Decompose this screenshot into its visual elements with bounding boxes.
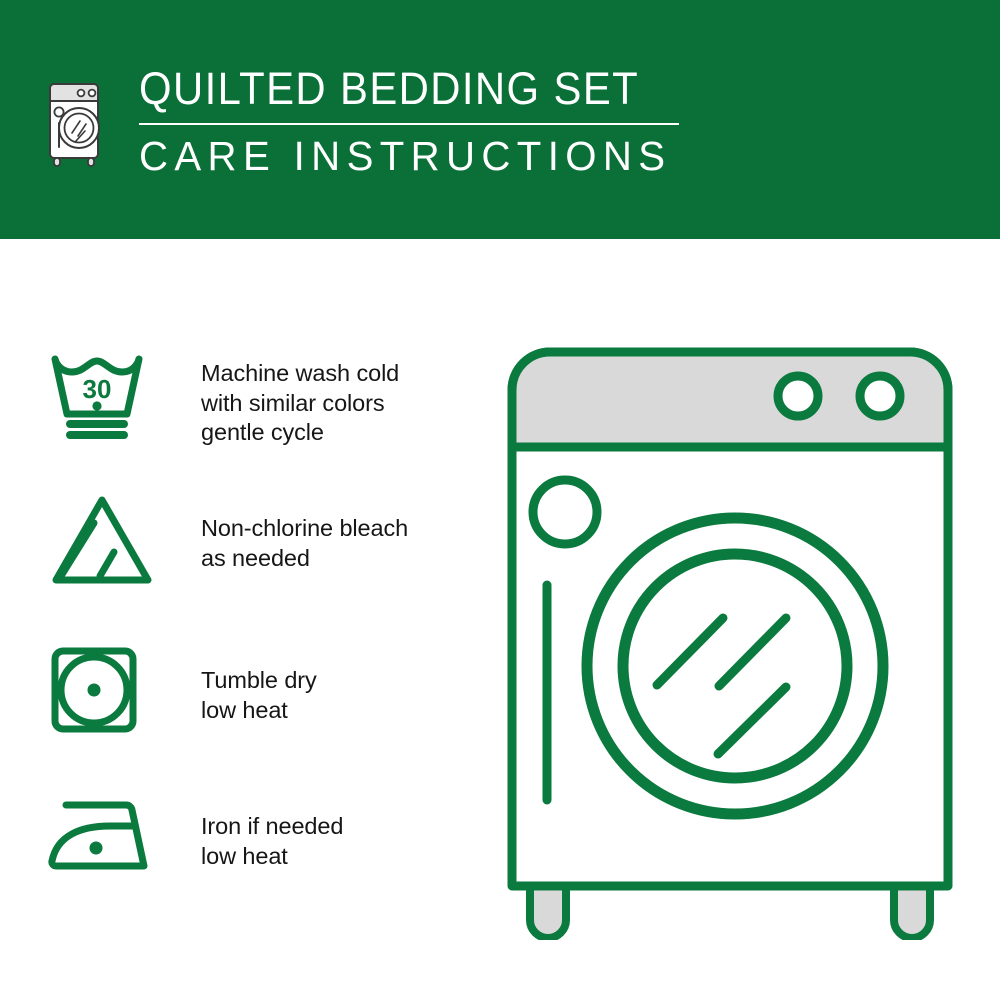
page-title: QUILTED BEDDING SET	[139, 66, 644, 111]
washing-machine-icon	[45, 71, 107, 171]
care-text-line: gentle cycle	[201, 418, 478, 448]
care-item-machine-wash: 30 Machine wash cold with similar colors…	[48, 336, 478, 484]
header-title-group: QUILTED BEDDING SET CARE INSTRUCTIONS	[139, 66, 682, 177]
control-knob-right[interactable]	[860, 376, 900, 416]
care-text-line: low heat	[201, 696, 478, 726]
care-text-line: Machine wash cold	[201, 359, 478, 389]
care-item-bleach: Non-chlorine bleach as needed	[48, 484, 478, 636]
wash-temperature-label: 30	[83, 374, 112, 404]
wash-tub-30-gentle-icon: 30	[48, 350, 146, 442]
front-load-washing-machine-illustration	[490, 330, 990, 940]
wash-dot	[92, 401, 101, 410]
control-knob-left[interactable]	[778, 376, 818, 416]
care-text-line: Iron if needed	[201, 812, 478, 842]
care-symbol-slot	[48, 784, 163, 876]
care-symbol-slot	[48, 636, 163, 736]
non-chlorine-bleach-triangle-icon	[48, 492, 156, 588]
care-instructions-infographic: QUILTED BEDDING SET CARE INSTRUCTIONS	[0, 0, 1000, 1000]
header-band: QUILTED BEDDING SET CARE INSTRUCTIONS	[0, 0, 1000, 239]
header-content: QUILTED BEDDING SET CARE INSTRUCTIONS	[45, 66, 682, 177]
care-item-tumble-dry: Tumble dry low heat	[48, 636, 478, 784]
care-item-iron: Iron if needed low heat	[48, 784, 478, 904]
care-text-line: as needed	[201, 544, 478, 574]
tumble-dry-low-heat-icon	[48, 644, 140, 736]
care-text-line: Non-chlorine bleach	[201, 514, 478, 544]
page-subtitle: CARE INSTRUCTIONS	[139, 136, 671, 177]
iron-dot	[90, 842, 103, 855]
care-item-text: Tumble dry low heat	[201, 636, 478, 725]
title-divider	[139, 123, 679, 125]
care-symbol-slot: 30	[48, 336, 163, 442]
care-text-line: with similar colors	[201, 389, 478, 419]
care-text-line: low heat	[201, 842, 478, 872]
care-item-text: Machine wash cold with similar colors ge…	[201, 336, 478, 448]
tumble-dry-dot	[88, 684, 101, 697]
care-instruction-list: 30 Machine wash cold with similar colors…	[48, 336, 478, 904]
care-symbol-slot	[48, 484, 163, 588]
care-item-text: Non-chlorine bleach as needed	[201, 484, 478, 573]
care-item-text: Iron if needed low heat	[201, 784, 478, 871]
detergent-indicator-circle	[533, 480, 597, 544]
iron-low-heat-icon	[48, 796, 156, 876]
care-text-line: Tumble dry	[201, 666, 478, 696]
